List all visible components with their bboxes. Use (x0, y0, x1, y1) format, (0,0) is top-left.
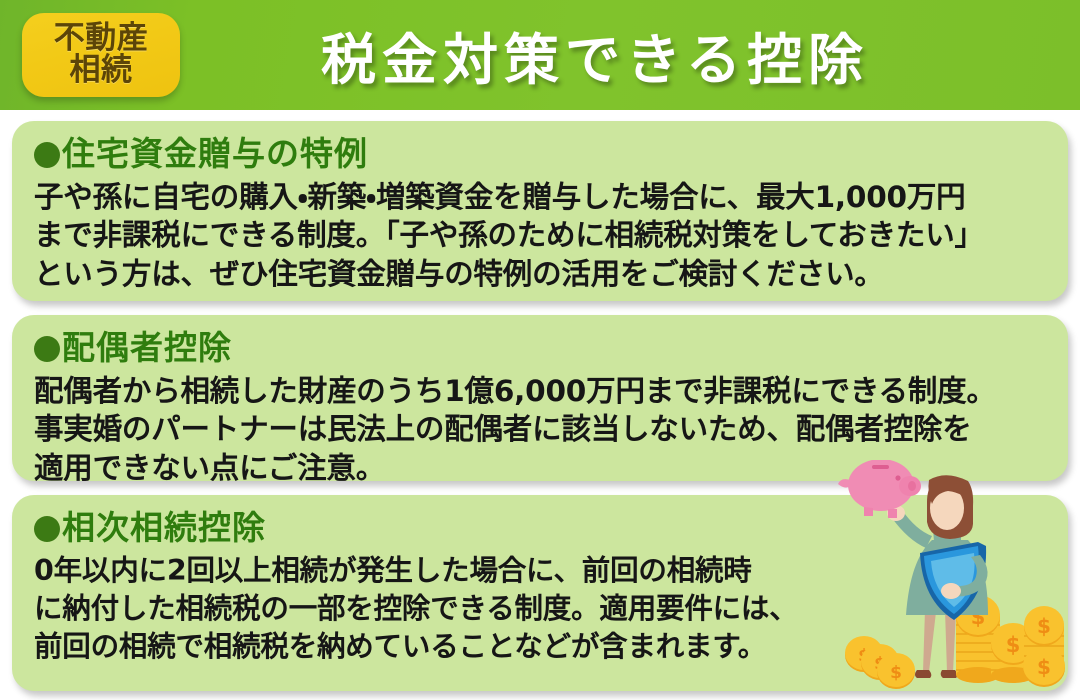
card-body-text: 0年以内に2回以上相続が発生した場合に、前回の相続時 に納付した相続税の一部を控… (34, 552, 1046, 666)
deduction-card-housing-fund-gift: 住宅資金贈与の特例 子や孫に自宅の購入・新築・増築資金を贈与した場合に、最大1,… (12, 121, 1068, 301)
category-badge-line-1: 不動産 (54, 23, 149, 55)
card-heading-text: 住宅資金贈与の特例 (62, 134, 368, 173)
card-heading: 配偶者控除 (34, 327, 1046, 369)
card-heading-text: 配偶者控除 (62, 328, 232, 367)
card-heading: 住宅資金贈与の特例 (34, 133, 1046, 175)
bullet-dot-icon (34, 142, 60, 168)
bullet-dot-icon (34, 336, 60, 362)
cards-container: 住宅資金贈与の特例 子や孫に自宅の購入・新築・増築資金を贈与した場合に、最大1,… (0, 110, 1080, 700)
card-body-text: 配偶者から相続した財産のうち1億6,000万円まで非課税にできる制度。 事実婚の… (34, 372, 1046, 481)
header-bar: 不動産 相続 税金対策できる控除 (0, 0, 1080, 110)
category-badge: 不動産 相続 (22, 13, 180, 97)
deduction-card-spouse-deduction: 配偶者控除 配偶者から相続した財産のうち1億6,000万円まで非課税にできる制度… (12, 315, 1068, 481)
card-heading-text: 相次相続控除 (62, 508, 266, 547)
card-body-text: 子や孫に自宅の購入・新築・増築資金を贈与した場合に、最大1,000万円 まで非課… (34, 178, 1046, 293)
card-heading: 相次相続控除 (34, 507, 1046, 549)
infographic-root: 不動産 相続 税金対策できる控除 住宅資金贈与の特例 子や孫に自宅の購入・新築・… (0, 0, 1080, 700)
deduction-card-successive-inheritance: 相次相続控除 0年以内に2回以上相続が発生した場合に、前回の相続時 に納付した相… (12, 495, 1068, 691)
bullet-dot-icon (34, 516, 60, 542)
category-badge-line-2: 相続 (70, 55, 133, 87)
